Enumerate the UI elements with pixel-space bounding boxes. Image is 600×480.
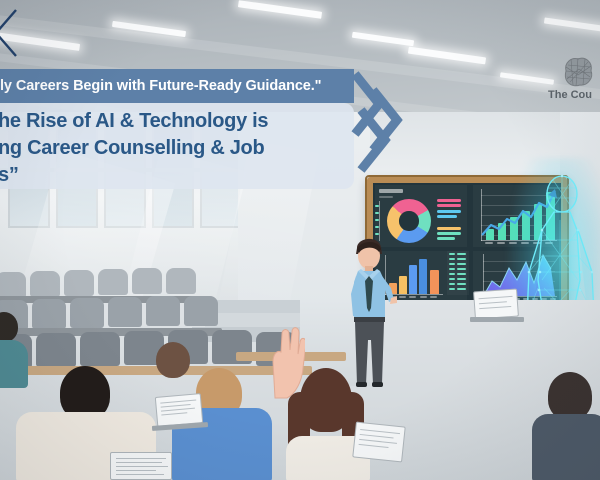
ceiling-light: [408, 47, 486, 65]
auditorium-seat: [36, 333, 76, 367]
legend-swatch: [437, 210, 461, 213]
laptop-screen[interactable]: [110, 452, 172, 480]
table-cell: [449, 288, 455, 290]
x-tick-label: [497, 242, 505, 244]
auditorium-seat: [30, 271, 60, 297]
auditorium-seat: [70, 298, 104, 328]
column-bar: [419, 259, 427, 294]
column-bar: [409, 265, 417, 294]
legend-swatch: [437, 199, 461, 202]
x-tick-label: [399, 296, 406, 298]
headline-line-1: he Rise of AI & Technology is: [0, 108, 346, 135]
tagline-text: ly Careers Begin with Future-Ready Guida…: [0, 78, 321, 94]
raised-hand-icon: [255, 310, 305, 400]
column-bar: [399, 276, 407, 294]
auditorium-seat: [32, 299, 66, 329]
auditorium-seat: [80, 332, 120, 366]
axis-tick: [375, 219, 379, 221]
axis-tick: [375, 212, 379, 214]
x-tick-label: [485, 242, 493, 244]
auditorium-seat: [146, 296, 180, 326]
brand-name: The Cou: [548, 89, 592, 101]
column-bar: [430, 270, 439, 294]
ceiling-light: [352, 32, 414, 47]
headline-panel: he Rise of AI & Technology is ng Career …: [0, 103, 354, 189]
table-cell: [457, 258, 466, 260]
table-cell: [449, 268, 455, 270]
student-head: [156, 342, 190, 378]
axis-tick: [375, 205, 379, 207]
scene-root: ly Careers Begin with Future-Ready Guida…: [0, 0, 600, 480]
table-cell: [449, 273, 455, 275]
corner-chevron-icon: [0, 6, 30, 58]
brain-network-icon: [560, 55, 596, 89]
student-torso: [532, 414, 600, 480]
table-cell: [457, 253, 466, 255]
ceiling-light: [238, 0, 322, 19]
laptop-base: [470, 317, 524, 322]
table-cell: [449, 283, 455, 285]
axis-tick: [375, 226, 379, 228]
legend-swatch: [437, 204, 461, 207]
brand-logo[interactable]: The Cou: [548, 55, 600, 107]
chevron-group: [349, 60, 405, 180]
panel-title-bar: [379, 189, 403, 193]
table-cell: [457, 288, 466, 290]
table-cell: [449, 258, 455, 260]
student-head: [548, 372, 592, 420]
legend-swatch: [437, 227, 461, 230]
table-cell: [457, 268, 466, 270]
ceiling-light: [544, 17, 600, 32]
laptop-screen[interactable]: [473, 288, 519, 319]
tagline-bar: ly Careers Begin with Future-Ready Guida…: [0, 69, 354, 103]
table-cell: [449, 278, 455, 280]
table-cell: [457, 278, 466, 280]
legend-swatch: [437, 215, 457, 218]
auditorium-seat: [64, 270, 94, 296]
presenter: [345, 232, 389, 384]
table-cell: [457, 263, 466, 265]
x-tick-label: [420, 296, 427, 298]
headline-line-2: ng Career Counselling & Job: [0, 135, 346, 162]
laptop-screen[interactable]: [352, 421, 405, 462]
auditorium-seat: [184, 296, 218, 326]
auditorium-seat: [0, 272, 26, 298]
legend-swatch: [437, 232, 461, 235]
table-cell: [449, 263, 455, 265]
auditorium-seat: [132, 268, 162, 294]
panel-subtitle: [379, 196, 393, 198]
legend-swatch: [437, 237, 455, 240]
auditorium-seat: [108, 297, 142, 327]
x-tick-label: [430, 296, 437, 298]
table-cell: [449, 253, 455, 255]
x-tick-label: [409, 296, 416, 298]
auditorium-seat: [98, 269, 128, 295]
table-cell: [457, 273, 466, 275]
auditorium-seat: [166, 268, 196, 294]
student-torso: [0, 340, 28, 388]
headline-line-3: s”: [0, 162, 346, 189]
table-cell: [457, 283, 466, 285]
